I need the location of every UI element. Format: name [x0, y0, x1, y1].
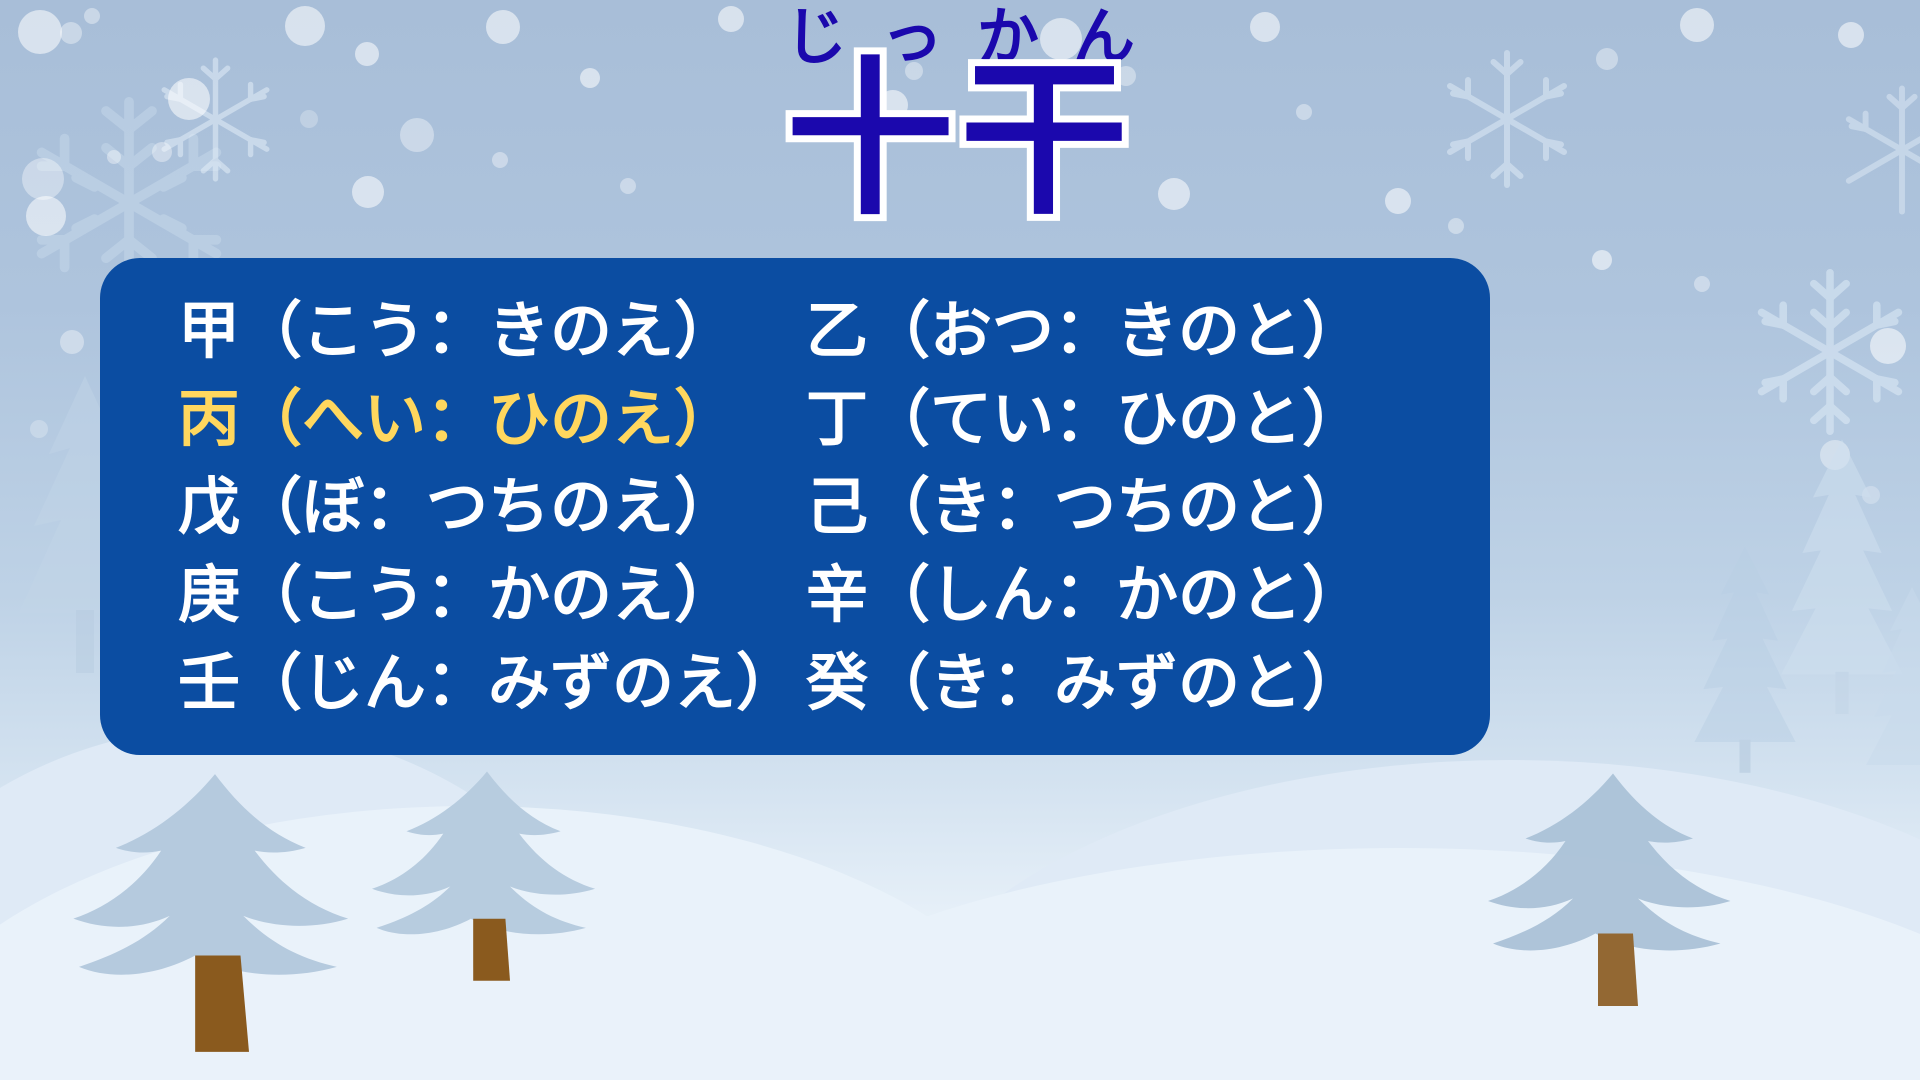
pine-tree-icon — [1488, 756, 1738, 1066]
pine-tree-icon — [372, 748, 602, 1048]
content-panel: 甲（こう：きのえ） 乙（おつ：きのと） 丙（へい：ひのえ） 丁（てい：ひのと） … — [100, 258, 1490, 755]
pine-tree-icon — [70, 760, 360, 1080]
stem-entry-tsuchinoe: 戊（ぼ：つちのえ） — [178, 476, 806, 538]
table-row: 甲（こう：きのえ） 乙（おつ：きのと） — [100, 287, 1490, 375]
stem-entry-kanoe: 庚（こう：かのえ） — [178, 564, 806, 626]
page-title: 十干 — [0, 56, 1920, 224]
pine-tree-icon — [1690, 540, 1800, 790]
snow-dot — [60, 330, 84, 354]
title-block: じっかん 十干 — [0, 6, 1920, 224]
table-row: 戊（ぼ：つちのえ） 己（き：つちのと） — [100, 463, 1490, 551]
stem-entry-tsuchinoto: 己（き：つちのと） — [806, 476, 1364, 538]
snow-dot — [1694, 276, 1710, 292]
stem-entry-kinoto: 乙（おつ：きのと） — [806, 300, 1364, 362]
stem-entry-kinoe: 甲（こう：きのえ） — [178, 300, 806, 362]
pine-tree-icon — [1862, 580, 1920, 810]
stem-entry-hinoto: 丁（てい：ひのと） — [806, 388, 1364, 450]
table-row: 丙（へい：ひのえ） 丁（てい：ひのと） — [100, 375, 1490, 463]
stem-entry-hinoe: 丙（へい：ひのえ） — [178, 388, 806, 450]
snow-dot — [1592, 250, 1612, 270]
stem-entry-mizunoto: 癸（き：みずのと） — [806, 652, 1364, 714]
stem-entry-kanoto: 辛（しん：かのと） — [806, 564, 1364, 626]
snow-dot — [1870, 328, 1906, 364]
table-row: 庚（こう：かのえ） 辛（しん：かのと） — [100, 551, 1490, 639]
slide-canvas: じっかん 十干 甲（こう：きのえ） 乙（おつ：きのと） 丙（へい：ひのえ） 丁（… — [0, 0, 1920, 1080]
table-row: 壬（じん：みずのえ） 癸（き：みずのと） — [100, 639, 1490, 727]
stem-entry-mizunoe: 壬（じん：みずのえ） — [178, 652, 806, 714]
